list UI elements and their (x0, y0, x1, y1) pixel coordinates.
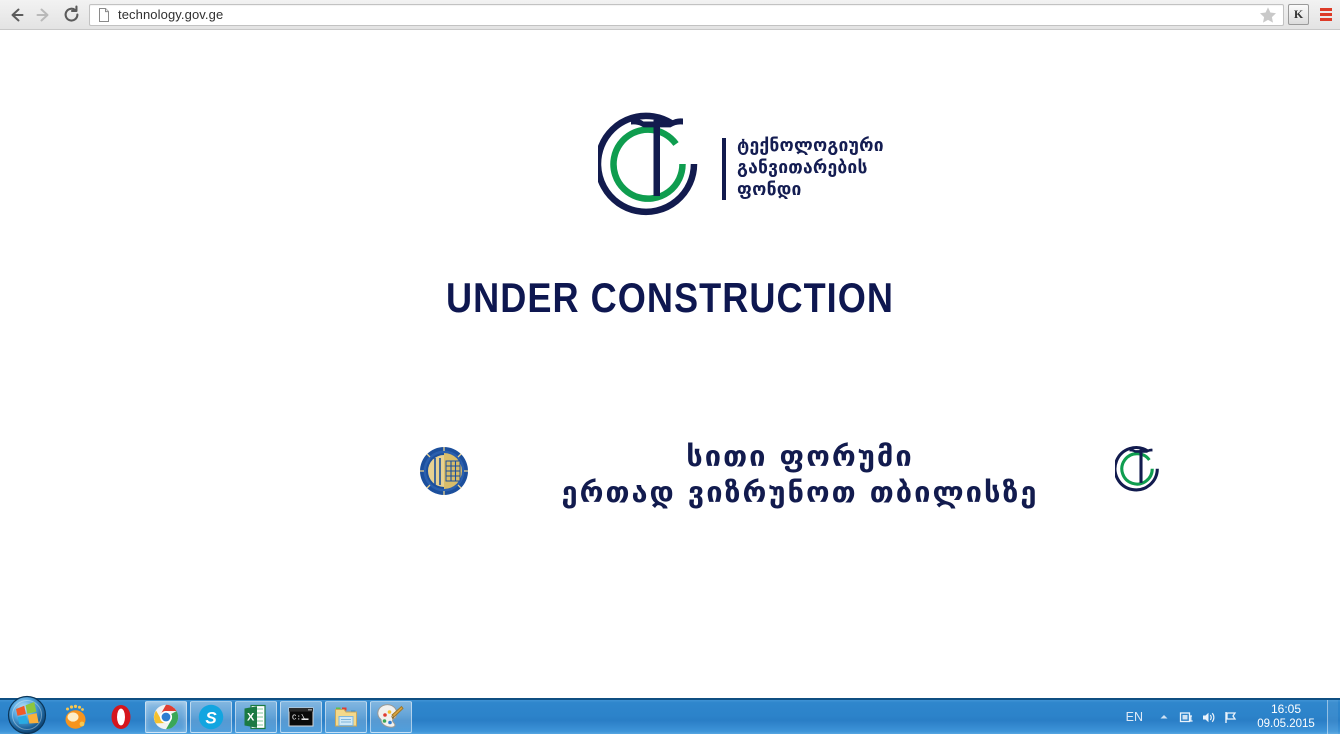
taskbar-items: S X C:\ (55, 700, 415, 734)
city-hall-seal-icon (418, 445, 470, 497)
reload-icon[interactable] (58, 2, 84, 28)
brand-wordmark: ტექნოლოგიური განვითარების ფონდი (737, 136, 884, 201)
action-center-flag-icon[interactable] (1219, 704, 1241, 730)
back-icon[interactable] (4, 2, 30, 28)
taskbar-item-file-explorer[interactable] (325, 701, 367, 733)
clock-date: 09.05.2015 (1249, 717, 1323, 732)
extension-button-k[interactable]: K (1288, 4, 1309, 25)
banner-text: სითი ფორუმი ერთად ვიზრუნოთ თბილისზე (490, 439, 1110, 510)
page-title: UNDER CONSTRUCTION (94, 274, 1246, 322)
bookmark-star-icon[interactable] (1258, 5, 1278, 25)
logo-divider (722, 138, 726, 200)
taskbar-item-google-chrome[interactable] (145, 701, 187, 733)
url-text[interactable]: technology.gov.ge (118, 7, 1258, 22)
svg-text:X: X (247, 712, 255, 724)
address-bar[interactable]: technology.gov.ge (89, 4, 1284, 26)
volume-speaker-icon[interactable] (1197, 704, 1219, 730)
taskbar-item-gom-player[interactable] (55, 701, 97, 733)
clock[interactable]: 16:05 09.05.2015 (1249, 702, 1323, 732)
taskbar-item-opera[interactable] (100, 701, 142, 733)
network-icon[interactable] (1175, 704, 1197, 730)
site-logo: ტექნოლოგიური განვითარების ფონდი (598, 104, 888, 234)
start-button[interactable] (2, 696, 52, 734)
system-tray: EN (1122, 700, 1338, 734)
taskbar-item-skype[interactable]: S (190, 701, 232, 733)
banner-line-2: ერთად ვიზრუნოთ თბილისზე (490, 474, 1110, 510)
taskbar-item-paint[interactable] (370, 701, 412, 733)
show-hidden-icons-chevron-up-icon[interactable] (1153, 704, 1175, 730)
clock-time: 16:05 (1249, 702, 1323, 717)
brand-line-2: განვითარების (737, 158, 884, 180)
language-indicator[interactable]: EN (1122, 710, 1153, 724)
tdf-logo-small-icon (1115, 443, 1167, 499)
taskbar-item-microsoft-excel[interactable]: X (235, 701, 277, 733)
banner-line-1: სითი ფორუმი (490, 439, 1110, 474)
show-desktop-button[interactable] (1327, 700, 1338, 734)
page-content: ტექნოლოგიური განვითარების ფონდი UNDER CO… (0, 31, 1340, 698)
brand-line-1: ტექნოლოგიური (737, 136, 884, 158)
chrome-menu-icon[interactable] (1315, 2, 1337, 28)
screen: technology.gov.ge K (0, 0, 1340, 734)
forward-icon[interactable] (30, 2, 56, 28)
svg-text:S: S (205, 709, 217, 728)
taskbar-item-command-prompt[interactable]: C:\ (280, 701, 322, 733)
taskbar: S X C:\ (0, 698, 1340, 734)
city-forum-banner: სითი ფორუმი ერთად ვიზრუნოთ თბილისზე (0, 417, 1340, 517)
page-document-icon (96, 7, 112, 23)
browser-toolbar: technology.gov.ge K (0, 0, 1340, 30)
tdf-logo-icon (598, 106, 716, 232)
brand-line-3: ფონდი (737, 180, 884, 202)
